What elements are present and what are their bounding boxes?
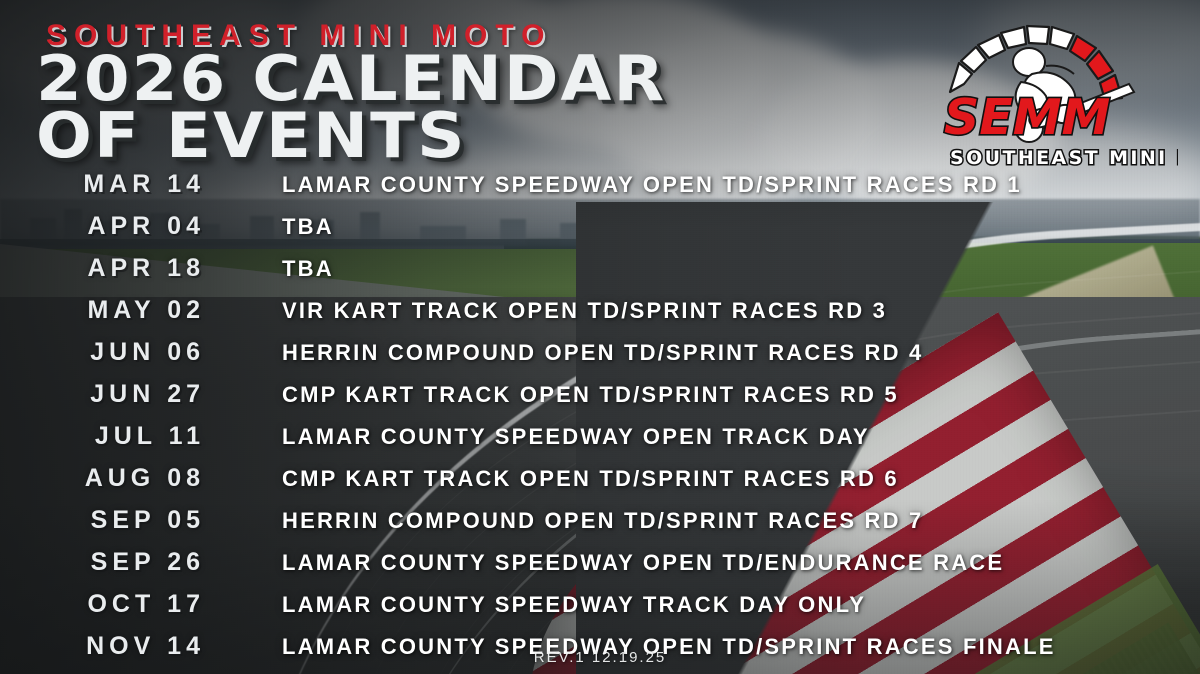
event-description: LAMAR COUNTY SPEEDWAY OPEN TRACK DAY (282, 424, 870, 450)
event-description: CMP KART TRACK OPEN TD/SPRINT RACES RD 6 (282, 466, 899, 492)
event-date: SEP 26 (0, 548, 205, 577)
event-row: APR 04 TBA (0, 212, 1200, 254)
event-date: APR 04 (0, 212, 205, 241)
poster-content: SOUTHEAST MINI MOTO 2026 CALENDAR OF EVE… (0, 0, 1200, 674)
event-date: MAR 14 (0, 170, 205, 199)
event-date: JUN 06 (0, 338, 205, 367)
event-date: MAY 02 (0, 296, 205, 325)
event-row: JUN 06 HERRIN COMPOUND OPEN TD/SPRINT RA… (0, 338, 1200, 380)
event-description: LAMAR COUNTY SPEEDWAY OPEN TD/ENDURANCE … (282, 550, 1004, 576)
event-row: SEP 26 LAMAR COUNTY SPEEDWAY OPEN TD/END… (0, 548, 1200, 590)
event-date: SEP 05 (0, 506, 205, 535)
event-row: MAR 14 LAMAR COUNTY SPEEDWAY OPEN TD/SPR… (0, 170, 1200, 212)
events-list: MAR 14 LAMAR COUNTY SPEEDWAY OPEN TD/SPR… (0, 170, 1200, 674)
event-description: HERRIN COMPOUND OPEN TD/SPRINT RACES RD … (282, 340, 923, 366)
calendar-poster: SOUTHEAST MINI MOTO 2026 CALENDAR OF EVE… (0, 0, 1200, 674)
logo-wordmark: SEMM (944, 89, 1110, 146)
event-description: LAMAR COUNTY SPEEDWAY OPEN TD/SPRINT RAC… (282, 172, 1022, 198)
event-row: MAY 02 VIR KART TRACK OPEN TD/SPRINT RAC… (0, 296, 1200, 338)
page-title: 2026 CALENDAR OF EVENTS (36, 50, 666, 164)
event-description: HERRIN COMPOUND OPEN TD/SPRINT RACES RD … (282, 508, 923, 534)
event-description: VIR KART TRACK OPEN TD/SPRINT RACES RD 3 (282, 298, 887, 324)
event-description: LAMAR COUNTY SPEEDWAY TRACK DAY ONLY (282, 592, 866, 618)
event-row: JUL 11 LAMAR COUNTY SPEEDWAY OPEN TRACK … (0, 422, 1200, 464)
event-description: TBA (282, 214, 334, 240)
event-description: CMP KART TRACK OPEN TD/SPRINT RACES RD 5 (282, 382, 899, 408)
event-date: JUN 27 (0, 380, 205, 409)
event-date: OCT 17 (0, 590, 205, 619)
event-row: SEP 05 HERRIN COMPOUND OPEN TD/SPRINT RA… (0, 506, 1200, 548)
revision-note: REV.1 12.19.25 (0, 649, 1200, 666)
semm-logo: SEMM SOUTHEAST MINI MOTO (928, 6, 1178, 172)
logo-tagline: SOUTHEAST MINI MOTO (950, 147, 1178, 169)
event-date: APR 18 (0, 254, 205, 283)
event-date: JUL 11 (0, 422, 205, 451)
event-row: APR 18 TBA (0, 254, 1200, 296)
event-row: OCT 17 LAMAR COUNTY SPEEDWAY TRACK DAY O… (0, 590, 1200, 632)
event-description: TBA (282, 256, 334, 282)
event-row: JUN 27 CMP KART TRACK OPEN TD/SPRINT RAC… (0, 380, 1200, 422)
event-date: AUG 08 (0, 464, 205, 493)
event-row: AUG 08 CMP KART TRACK OPEN TD/SPRINT RAC… (0, 464, 1200, 506)
